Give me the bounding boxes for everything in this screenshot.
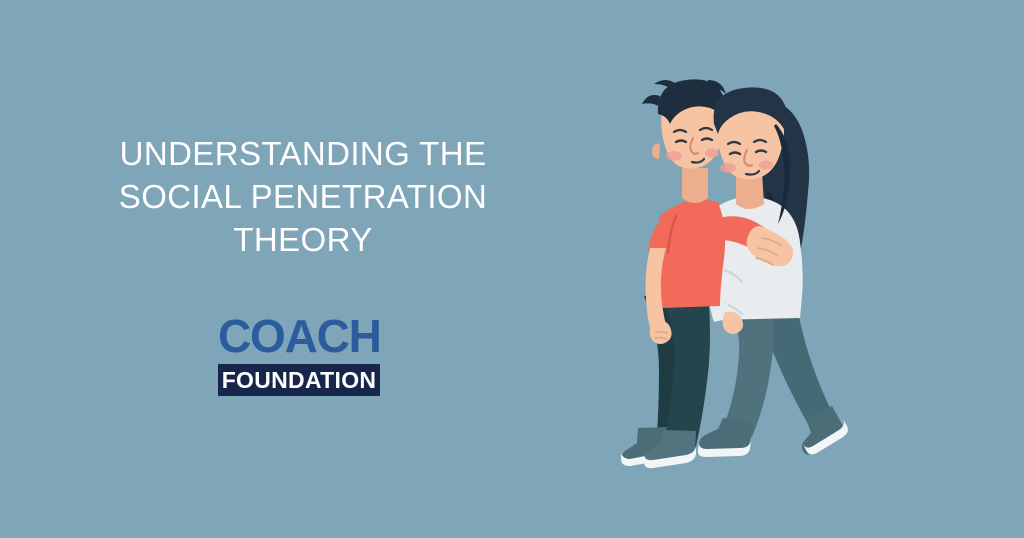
woman-blush-left: [720, 163, 736, 173]
man-hair-spike-2: [654, 80, 676, 90]
woman-blush-right: [759, 161, 773, 170]
man-tshirt: [658, 200, 725, 308]
page-title: UNDERSTANDING THE SOCIAL PENETRATION THE…: [64, 132, 542, 261]
man-blush-left: [666, 151, 682, 161]
man-ear: [652, 144, 660, 159]
logo-foundation-bar: FOUNDATION: [218, 364, 380, 396]
woman-front-shoe: [699, 418, 754, 450]
logo-word-coach: COACH: [218, 311, 390, 361]
poster-canvas: UNDERSTANDING THE SOCIAL PENETRATION THE…: [0, 0, 1024, 538]
man-blush-right: [705, 149, 719, 158]
coach-foundation-logo: COACH FOUNDATION: [218, 311, 390, 396]
man-hair-spike-1: [642, 95, 660, 106]
couple-walking-illustration: [600, 40, 880, 480]
logo-word-foundation: FOUNDATION: [222, 369, 377, 392]
man-neck: [682, 168, 708, 203]
